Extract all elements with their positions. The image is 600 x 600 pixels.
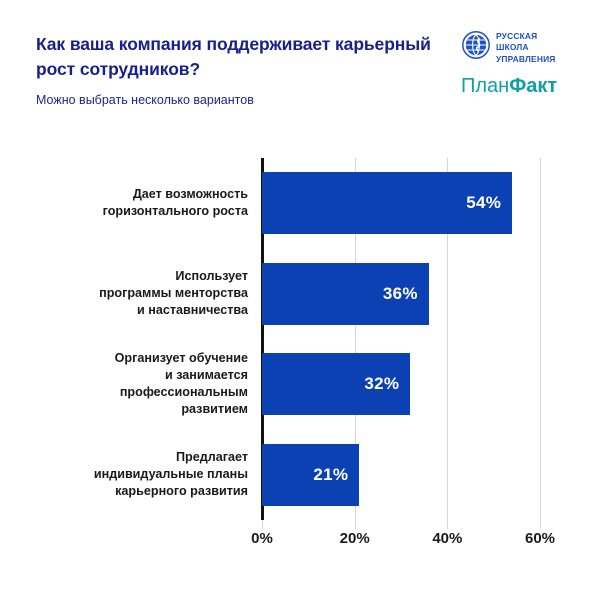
page-title: Как ваша компания поддерживает карьерный… xyxy=(36,32,436,82)
page-subtitle: Можно выбрать несколько вариантов xyxy=(36,92,436,108)
globe-icon xyxy=(461,30,491,60)
planfact-logo: ПланФакт xyxy=(461,76,557,96)
rsu-logo-text: РУССКАЯ ШКОЛА УПРАВЛЕНИЯ xyxy=(496,30,556,65)
bar[interactable]: 36% xyxy=(262,263,429,325)
bar-value-label: 32% xyxy=(364,353,399,415)
rsu-line-1: РУССКАЯ xyxy=(496,31,537,41)
bar-value-label: 36% xyxy=(383,263,418,325)
category-label: Дает возможностьгоризонтального роста xyxy=(18,186,248,220)
bar-row: 32% xyxy=(262,353,540,415)
category-label-line: программы менторства xyxy=(99,286,248,300)
category-label-line: Использует xyxy=(175,269,248,283)
x-tick-mark xyxy=(355,520,356,529)
category-label-line: горизонтального роста xyxy=(103,204,248,218)
bar-chart: 0%20%40%60% 54%36%32%21% Дает возможност… xyxy=(0,140,600,600)
bar-value-label: 54% xyxy=(466,172,501,234)
x-tick-label: 20% xyxy=(340,530,370,547)
category-label-line: карьерного развития xyxy=(115,484,248,498)
category-label-line: Организует обучение xyxy=(115,351,248,365)
category-label-line: Предлагает xyxy=(176,450,248,464)
x-tick-mark xyxy=(540,520,541,529)
bar[interactable]: 54% xyxy=(262,172,512,234)
category-label-line: и занимается xyxy=(165,368,248,382)
bar-row: 36% xyxy=(262,263,540,325)
x-tick-label: 0% xyxy=(251,530,273,547)
category-label-line: профессиональным xyxy=(120,385,248,399)
bar-value-label: 21% xyxy=(313,444,348,506)
category-label-line: развитием xyxy=(181,402,248,416)
category-label: Организует обучениеи занимаетсяпрофессио… xyxy=(18,350,248,418)
category-label: Предлагаетиндивидуальные планыкарьерного… xyxy=(18,449,248,500)
x-tick-mark xyxy=(447,520,448,529)
bar-row: 21% xyxy=(262,444,540,506)
rsu-logo: РУССКАЯ ШКОЛА УПРАВЛЕНИЯ xyxy=(461,30,556,65)
x-tick-mark xyxy=(262,520,263,529)
chart-header: Как ваша компания поддерживает карьерный… xyxy=(0,0,600,140)
category-label-line: индивидуальные планы xyxy=(94,467,248,481)
category-label: Используетпрограммы менторстваи наставни… xyxy=(18,268,248,319)
bar[interactable]: 21% xyxy=(262,444,359,506)
planfact-logo-light: План xyxy=(461,75,509,97)
rsu-line-3: УПРАВЛЕНИЯ xyxy=(496,54,556,64)
x-tick-label: 60% xyxy=(525,530,555,547)
category-label-line: и наставничества xyxy=(137,303,248,317)
bar[interactable]: 32% xyxy=(262,353,410,415)
category-label-line: Дает возможность xyxy=(133,187,248,201)
bar-row: 54% xyxy=(262,172,540,234)
x-tick-label: 40% xyxy=(432,530,462,547)
gridline xyxy=(540,158,541,520)
chart-page: Как ваша компания поддерживает карьерный… xyxy=(0,0,600,600)
planfact-logo-bold: Факт xyxy=(509,75,557,97)
rsu-line-2: ШКОЛА xyxy=(496,42,529,52)
